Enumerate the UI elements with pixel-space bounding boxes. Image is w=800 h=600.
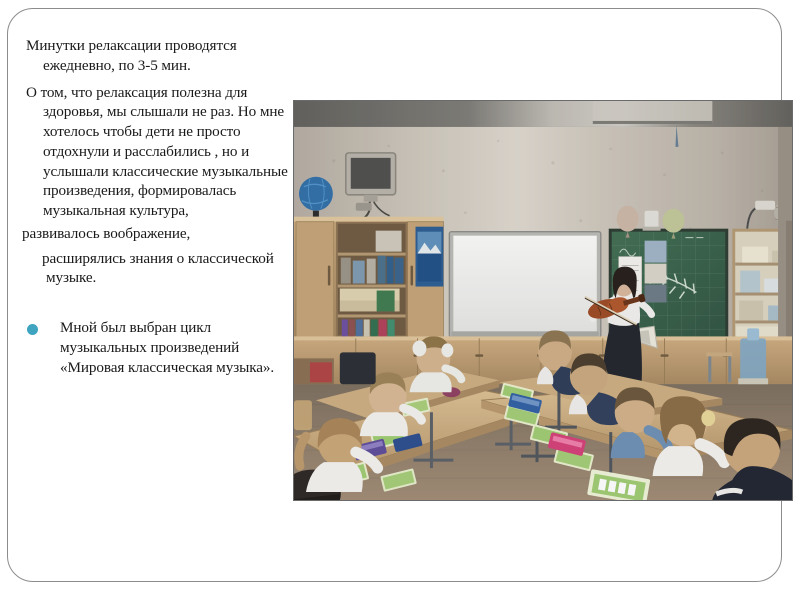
paragraph-knowledge: расширялись знания о классической музыке… bbox=[18, 249, 300, 289]
presentation-slide: Минутки релаксации проводятся ежедневно,… bbox=[0, 0, 800, 600]
paragraph-imagination: развивалось воображение, bbox=[18, 224, 300, 244]
classroom-photo bbox=[293, 100, 793, 501]
paragraph-relaxation-minutes: Минутки релаксации проводятся ежедневно,… bbox=[18, 36, 300, 76]
slide-text-column: Минутки релаксации проводятся ежедневно,… bbox=[18, 36, 300, 377]
classroom-photo-image bbox=[294, 101, 792, 500]
list-item: Мной был выбран цикл музыкальных произве… bbox=[18, 318, 300, 377]
bullet-item-label: Мной был выбран цикл музыкальных произве… bbox=[60, 319, 274, 376]
bullet-dot-icon bbox=[27, 324, 38, 335]
paragraph-relaxation-benefits: О том, что релаксация полезна для здоров… bbox=[18, 83, 300, 221]
